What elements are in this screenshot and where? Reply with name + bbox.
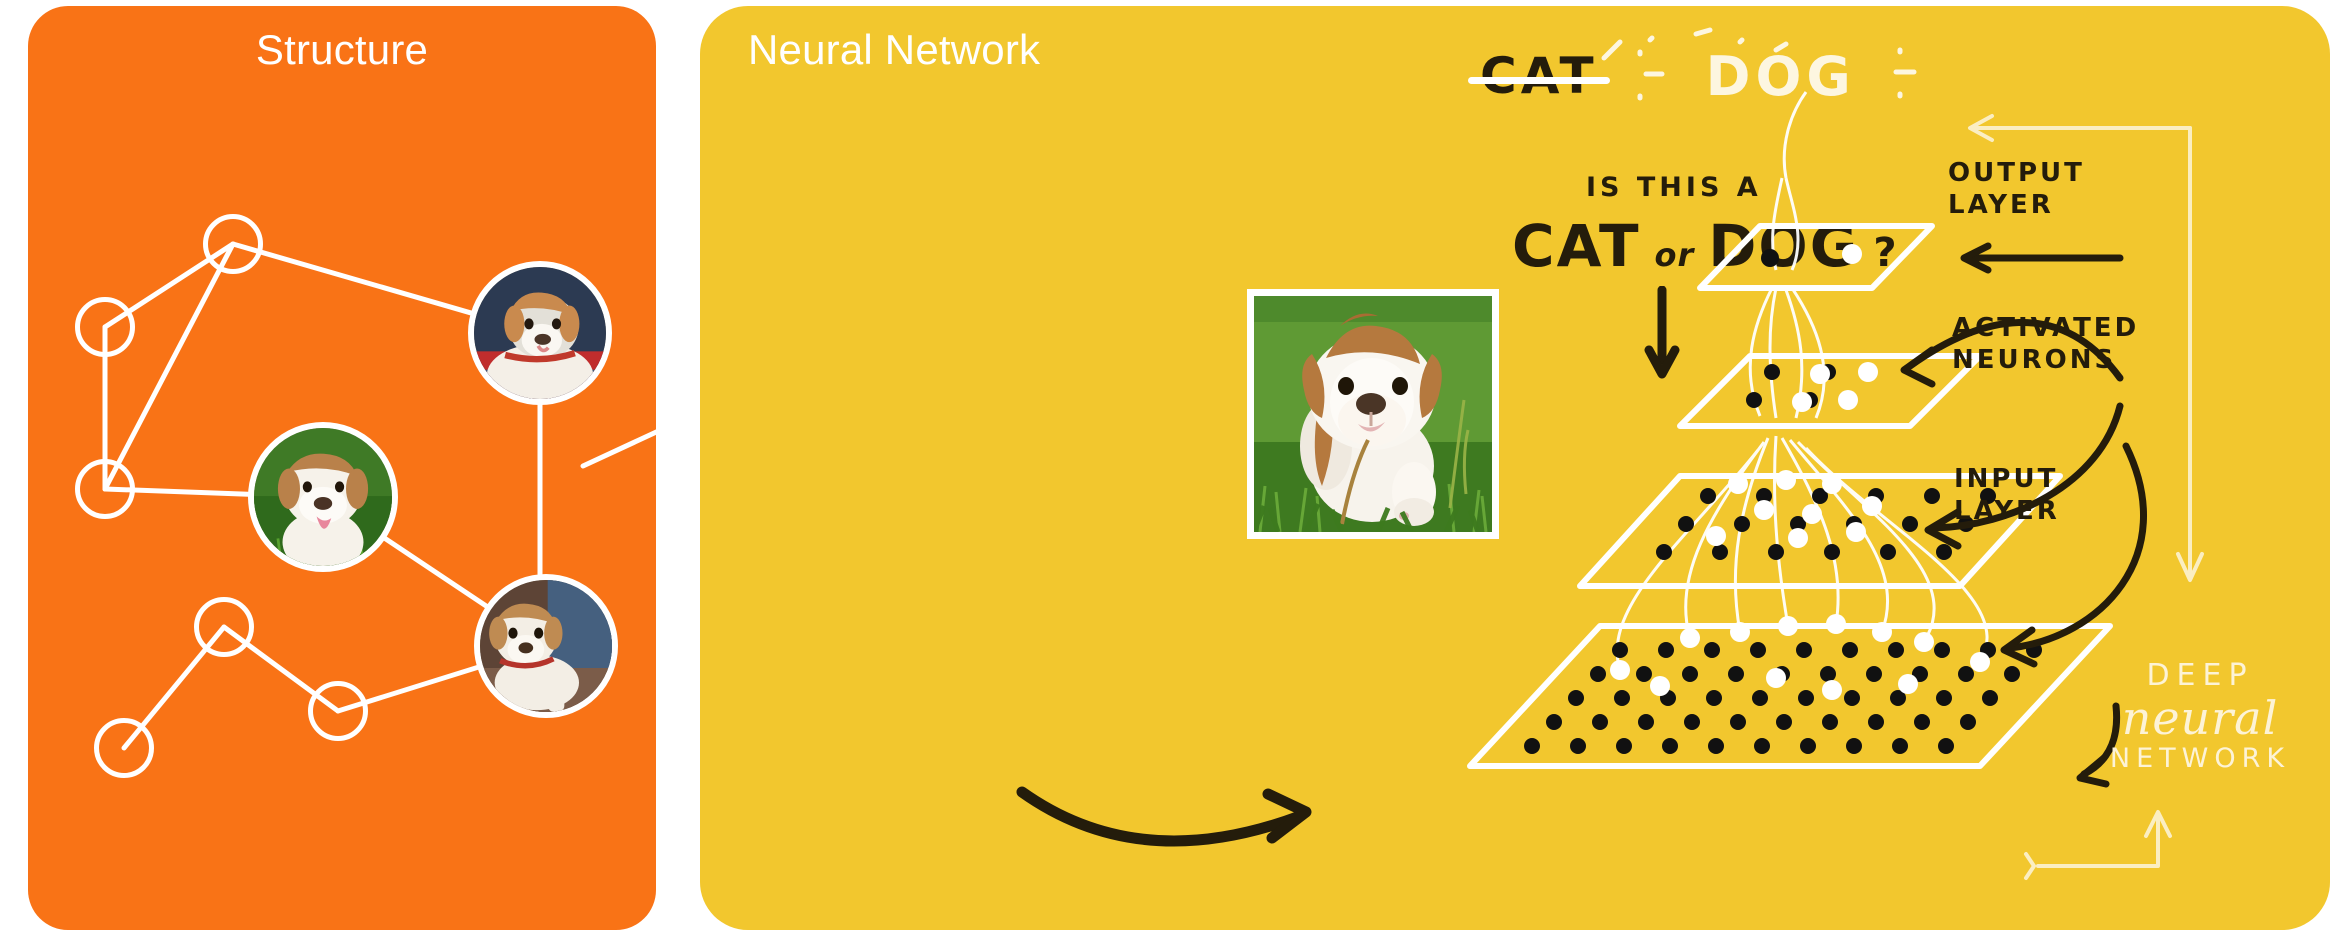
node-top <box>203 214 263 274</box>
edge <box>105 244 233 489</box>
brand-line-network: NETWORK <box>2090 743 2310 774</box>
output-neuron-activated <box>1842 244 1862 264</box>
panel-structure: Structure <box>28 6 656 930</box>
node-lower-mid <box>194 597 254 657</box>
node-mid-left <box>75 459 135 519</box>
poster-canvas: Structure <box>0 0 2330 936</box>
neural-title: Neural Network <box>748 26 1040 74</box>
layer-hidden-2 <box>1680 356 1980 426</box>
node-lower-left <box>94 718 154 778</box>
output-neuron-inactive <box>1761 249 1779 267</box>
panel-neural-network: Neural Network CAT DOG <box>700 6 2330 930</box>
dog-photo-node-bottom <box>474 574 618 718</box>
bracket-bottom-arrowhead-left-icon <box>2026 854 2034 878</box>
node-lower-right <box>308 681 368 741</box>
brand-line-deep: DEEP <box>2090 658 2310 693</box>
deep-neural-network-brand: DEEP neural NETWORK <box>2090 658 2310 774</box>
dog-photo-node-top <box>468 261 612 405</box>
dog-photo-node-center <box>248 422 398 572</box>
hidden1-neurons-activated <box>1706 470 1882 548</box>
brand-bottom-bracket <box>2010 806 2310 916</box>
node-upper-left <box>75 297 135 357</box>
brand-line-neural: neural <box>2090 691 2310 745</box>
layer-output <box>1700 226 1932 288</box>
